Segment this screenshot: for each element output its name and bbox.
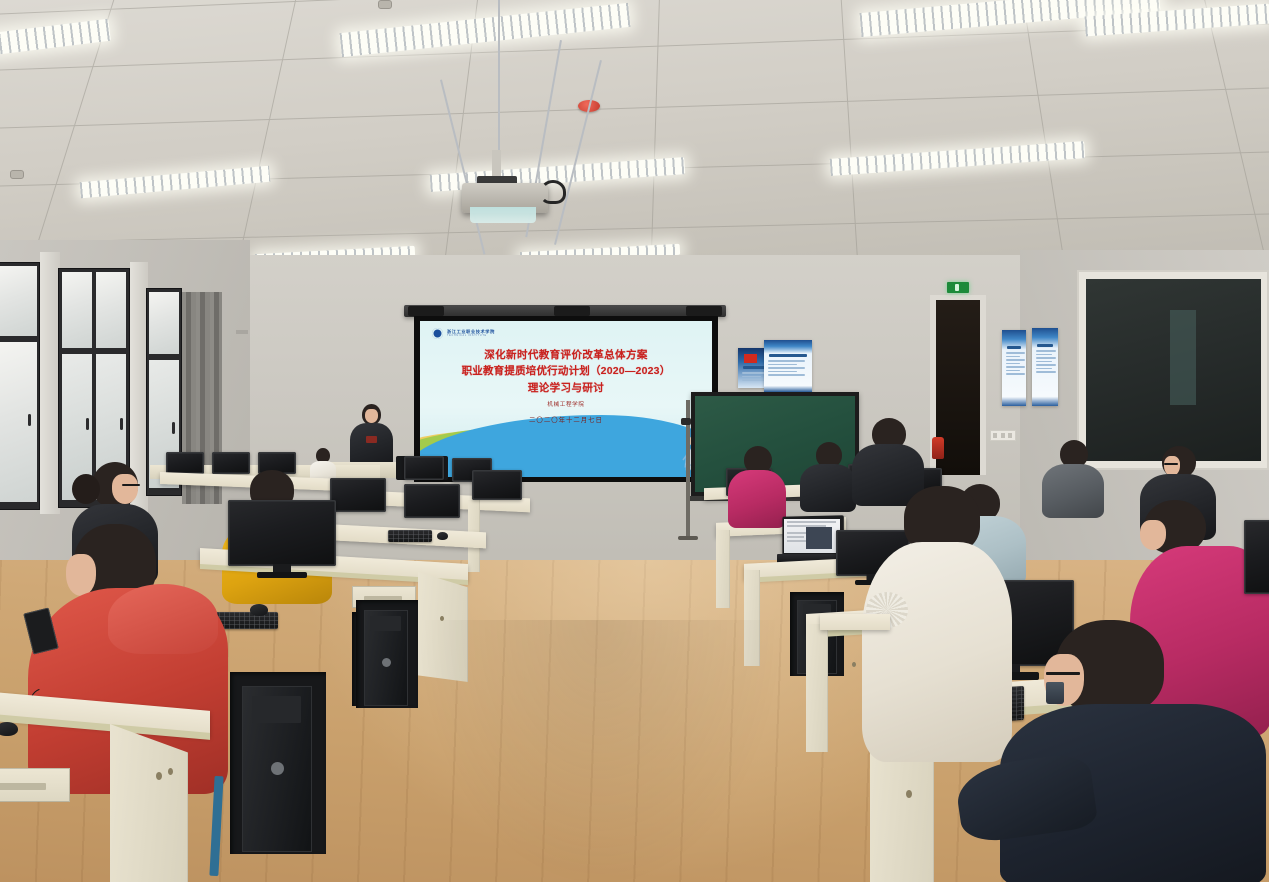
microphone-clip bbox=[681, 418, 691, 425]
monitor bbox=[472, 470, 522, 500]
fire-extinguisher bbox=[932, 437, 944, 459]
slide-date: 二〇二〇年十二月七日 bbox=[420, 415, 712, 424]
logo-mark bbox=[432, 328, 443, 339]
attendee-magenta-coat bbox=[728, 446, 786, 524]
desk-lock bbox=[168, 768, 173, 775]
presenter-head bbox=[362, 404, 381, 425]
slide-institution-logo: 浙江工业职业技术学院 TECHNICAL INSTITUTE bbox=[432, 328, 495, 339]
window-left-1 bbox=[0, 262, 40, 510]
attendee-navy-coat bbox=[1000, 620, 1269, 882]
monitor bbox=[404, 456, 444, 480]
presenter-logo-patch bbox=[366, 436, 377, 443]
desk bbox=[820, 614, 890, 630]
computer-tower bbox=[364, 610, 408, 706]
exit-sign bbox=[947, 282, 969, 293]
ceiling-speaker bbox=[378, 0, 392, 9]
slide-department: 机械工程学院 bbox=[420, 400, 712, 408]
slide-text-block: 深化新时代教育评价改革总体方案 职业教育提质培优行动计划（2020—2023） … bbox=[420, 347, 712, 424]
desk-side-panel bbox=[806, 624, 828, 752]
body bbox=[728, 470, 786, 528]
desk-lock bbox=[156, 772, 162, 780]
presenter-body bbox=[350, 423, 393, 467]
attendee-cream-coat bbox=[856, 486, 1016, 796]
mouse[interactable] bbox=[437, 532, 448, 540]
wall-vent bbox=[236, 330, 248, 334]
cup bbox=[1046, 682, 1064, 704]
monitor bbox=[228, 500, 336, 566]
microphone-stand-base bbox=[678, 536, 698, 540]
projector-cable bbox=[540, 180, 566, 204]
computer-tower bbox=[242, 686, 312, 852]
body bbox=[800, 464, 856, 512]
head bbox=[1056, 620, 1164, 714]
keyboard[interactable] bbox=[388, 530, 432, 542]
monitor bbox=[404, 484, 460, 518]
attendee-gray-back bbox=[1042, 440, 1104, 514]
mouse[interactable] bbox=[250, 604, 268, 616]
coat-hood bbox=[108, 584, 218, 654]
body bbox=[862, 542, 1012, 762]
aisle-shadow bbox=[420, 620, 780, 882]
desk-side-panel bbox=[716, 530, 730, 608]
laptop-document-window bbox=[806, 527, 832, 549]
monitor bbox=[330, 478, 386, 512]
monitor bbox=[166, 452, 204, 474]
slide-line-3: 理论学习与研讨 bbox=[420, 380, 712, 396]
ceiling-speaker bbox=[10, 170, 24, 179]
attendee-dark-back bbox=[800, 442, 856, 508]
wall-pillar bbox=[40, 252, 60, 514]
light-switch-panel[interactable] bbox=[990, 430, 1016, 441]
body bbox=[1042, 464, 1104, 518]
mouse[interactable] bbox=[0, 722, 18, 736]
slide-line-2: 职业教育提质培优行动计划（2020—2023） bbox=[420, 363, 712, 379]
desk-drawer[interactable] bbox=[0, 768, 70, 802]
monitor bbox=[1244, 520, 1269, 594]
poster-center-blue bbox=[764, 340, 812, 392]
laptop-screen[interactable] bbox=[784, 519, 840, 553]
tower-bay bbox=[356, 600, 418, 708]
classroom-photo-scene: 浙江工业职业技术学院 TECHNICAL INSTITUTE 深化新时代教育评价… bbox=[0, 0, 1269, 882]
eyeglasses bbox=[1046, 672, 1080, 675]
presenter bbox=[348, 404, 394, 466]
suspension-wire bbox=[498, 0, 500, 150]
projector-lens bbox=[470, 207, 536, 223]
poster-right-blue-1 bbox=[1002, 330, 1026, 406]
presentation-slide: 浙江工业职业技术学院 TECHNICAL INSTITUTE 深化新时代教育评价… bbox=[420, 321, 712, 477]
poster-right-blue-2 bbox=[1032, 328, 1058, 406]
interior-window-reflection bbox=[1170, 310, 1196, 405]
logo-text-en: TECHNICAL INSTITUTE bbox=[447, 335, 495, 337]
slide-line-1: 深化新时代教育评价改革总体方案 bbox=[420, 347, 712, 363]
tower-bay bbox=[230, 672, 326, 854]
hair-bun bbox=[72, 474, 100, 504]
